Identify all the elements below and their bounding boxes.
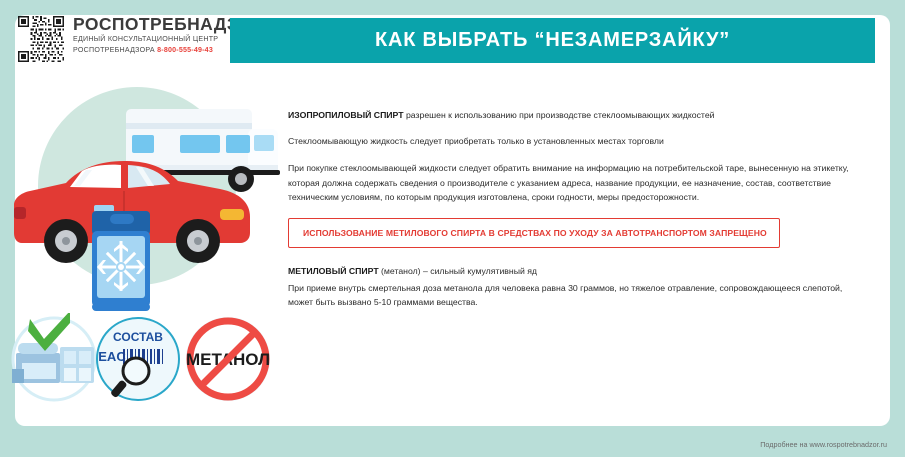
warning-box: ИСПОЛЬЗОВАНИЕ МЕТИЛОВОГО СПИРТА В СРЕДСТ…: [288, 218, 780, 248]
paragraph-methanol-dose: При приеме внутрь смертельная доза метан…: [288, 281, 868, 310]
qr-code-icon: [18, 16, 64, 62]
organization-logo-block: РОСПОТРЕБНАДЗОР ЕДИНЫЙ КОНСУЛЬТАЦИОННЫЙ …: [18, 14, 264, 62]
organization-subtitle-text: РОСПОТРЕБНАДЗОРА: [73, 46, 155, 54]
product-label-icon: СОСТАВ EAC: [92, 313, 184, 405]
paragraph-isopropyl: ИЗОПРОПИЛОВЫЙ СПИРТ разрешен к использов…: [288, 108, 868, 123]
hotline-phone-number: 8-800-555-49-43: [157, 46, 213, 54]
warning-text: ИСПОЛЬЗОВАНИЕ МЕТИЛОВОГО СПИРТА В СРЕДСТ…: [303, 228, 769, 238]
title-banner: КАК ВЫБРАТЬ “НЕЗАМЕРЗАЙКУ”: [230, 18, 875, 63]
paragraph-label-info: При покупке стеклоомывающей жидкости сле…: [288, 161, 868, 205]
methanol-rest: (метанол) – сильный кумулятивный яд: [379, 266, 537, 276]
footer-note: Подробнее на www.rospotrebnadzor.ru: [760, 440, 887, 449]
isopropyl-lead: ИЗОПРОПИЛОВЫЙ СПИРТ: [288, 110, 404, 120]
poster-title: КАК ВЫБРАТЬ “НЕЗАМЕРЗАЙКУ”: [375, 29, 730, 52]
illustration-area: СОСТАВ EAC МЕТАНОЛ: [0, 75, 285, 411]
poster: РОСПОТРЕБНАДЗОР ЕДИНЫЙ КОНСУЛЬТАЦИОННЫЙ …: [0, 0, 905, 457]
methanol-lead: МЕТИЛОВЫЙ СПИРТ: [288, 266, 379, 276]
paragraph-purchase-place: Стеклоомывающую жидкость следует приобре…: [288, 134, 868, 149]
paragraph-methanol-definition: МЕТИЛОВЫЙ СПИРТ (метанол) – сильный куму…: [288, 264, 868, 279]
sostav-label: СОСТАВ: [113, 330, 163, 344]
prohibition-sign-icon: МЕТАНОЛ: [178, 311, 278, 407]
antifreeze-jug-icon: [88, 203, 158, 315]
content-column: ИЗОПРОПИЛОВЫЙ СПИРТ разрешен к использов…: [288, 108, 868, 323]
eac-mark: EAC: [98, 349, 126, 364]
isopropyl-rest: разрешен к использованию при производств…: [404, 110, 715, 120]
store-building-icon: [8, 313, 100, 405]
